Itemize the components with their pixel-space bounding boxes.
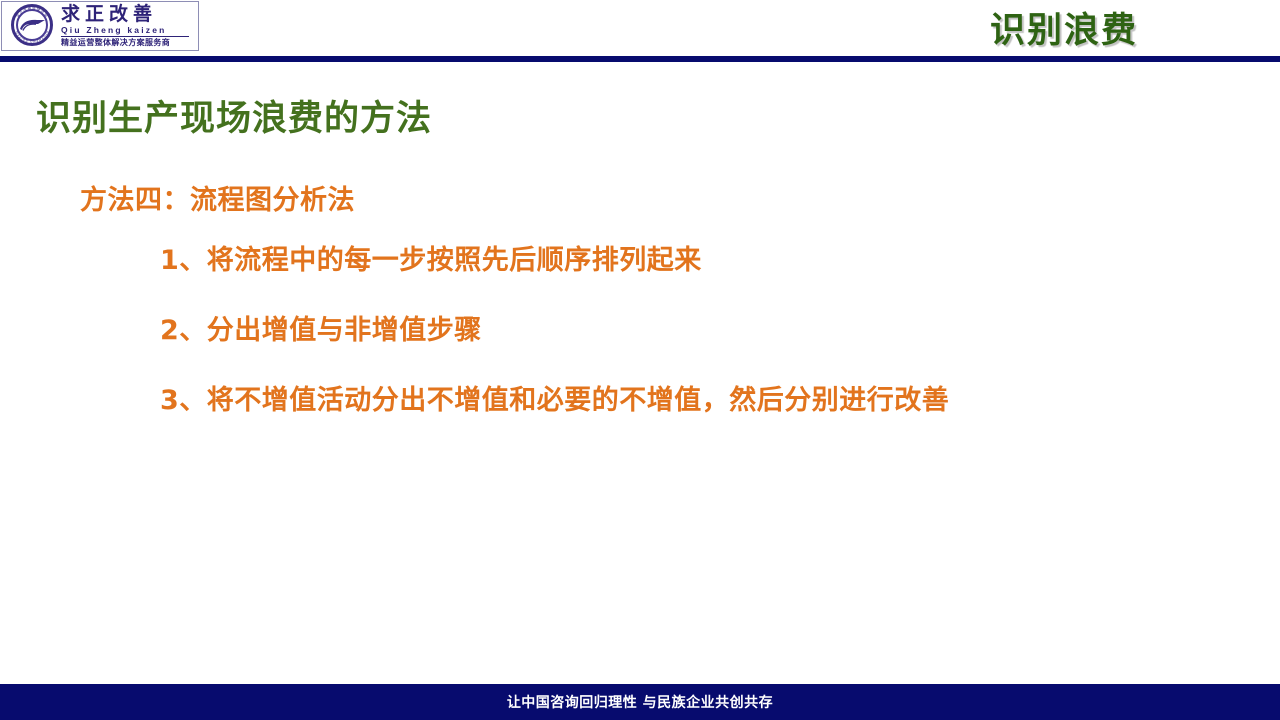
- method-heading: 方法四：流程图分析法: [80, 178, 355, 217]
- list-item: 3、将不增值活动分出不增值和必要的不增值，然后分别进行改善: [160, 378, 1250, 417]
- list-item: 2、分出增值与非增值步骤: [160, 308, 1250, 347]
- presentation-slide: 求正改善管理咨询 QIUZHENG KAIZEN 求正改善 Qiu Zheng …: [0, 0, 1280, 720]
- page-title: 识别生产现场浪费的方法: [36, 90, 432, 141]
- logo-company-name-en: Qiu Zheng kaizen: [61, 26, 189, 37]
- footer-slogan: 让中国咨询回归理性 与民族企业共创共存: [507, 692, 773, 712]
- qiuzheng-circular-emblem-icon: 求正改善管理咨询 QIUZHENG KAIZEN: [10, 3, 56, 49]
- emblem-swoosh-icon: [19, 18, 46, 32]
- steps-list: 1、将流程中的每一步按照先后顺序排列起来 2、分出增值与非增值步骤 3、将不增值…: [160, 238, 1250, 448]
- company-logo: 求正改善管理咨询 QIUZHENG KAIZEN 求正改善 Qiu Zheng …: [1, 1, 199, 51]
- header-title: 识别浪费: [990, 2, 1138, 53]
- logo-tagline: 精益运营整体解决方案服务商: [61, 39, 189, 47]
- slide-footer: 让中国咨询回归理性 与民族企业共创共存: [0, 684, 1280, 720]
- logo-wordmark: 求正改善 Qiu Zheng kaizen 精益运营整体解决方案服务商: [61, 5, 189, 47]
- svg-text:求正改善管理咨询: 求正改善管理咨询: [15, 5, 49, 18]
- list-item: 1、将流程中的每一步按照先后顺序排列起来: [160, 238, 1250, 277]
- slide-header: 求正改善管理咨询 QIUZHENG KAIZEN 求正改善 Qiu Zheng …: [0, 0, 1280, 56]
- header-divider: [0, 56, 1280, 62]
- logo-company-name-cn: 求正改善: [61, 5, 189, 24]
